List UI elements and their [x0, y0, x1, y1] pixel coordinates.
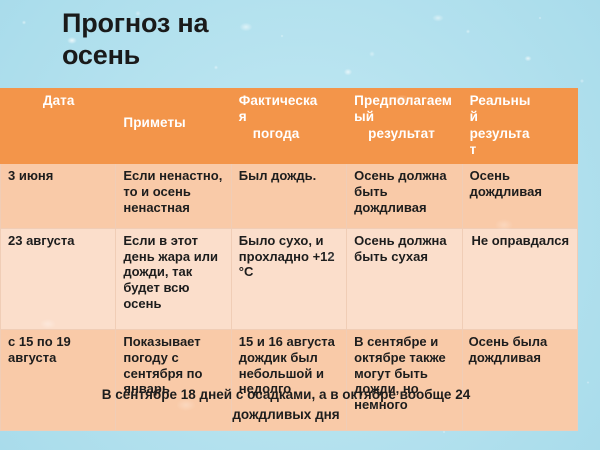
column-header-real-line2: й — [470, 109, 571, 125]
slide-canvas: Прогноз на осень Дата Приметы Фактическа… — [0, 0, 600, 450]
column-header-actual-weather: Фактическа я погода — [231, 89, 346, 164]
table-row: 23 августа Если в этот день жара или дож… — [1, 228, 578, 329]
cell-real-result: Не оправдался — [462, 228, 577, 329]
column-header-real-line3: результа — [470, 126, 571, 142]
cell-date: 23 августа — [1, 228, 116, 329]
column-header-actual-line1: Фактическа — [239, 93, 340, 109]
column-header-signs: Приметы — [116, 89, 231, 164]
cell-actual: Был дождь. — [231, 163, 346, 228]
table-body: 3 июня Если ненастно, то и осень ненастн… — [1, 163, 578, 430]
table-row: 3 июня Если ненастно, то и осень ненастн… — [1, 163, 578, 228]
cell-expected: В сентябре и октябре также могут быть до… — [347, 329, 462, 430]
column-header-signs-label: Приметы — [123, 115, 224, 131]
cell-real-result: Осень дождливая — [462, 163, 577, 228]
forecast-table-container: Дата Приметы Фактическа я погода Предпол… — [0, 88, 578, 431]
column-header-date-label: Дата — [8, 93, 109, 109]
column-header-real-result: Реальны й результа т — [462, 89, 577, 164]
column-header-expected-result: Предполагаем ый результат — [347, 89, 462, 164]
cell-signs: Если ненастно, то и осень ненастная — [116, 163, 231, 228]
cell-date: 3 июня — [1, 163, 116, 228]
column-header-real-line4: т — [470, 142, 571, 158]
table-row: с 15 по 19 августа Показывает погоду с с… — [1, 329, 578, 430]
cell-signs: Если в этот день жара или дожди, так буд… — [116, 228, 231, 329]
column-header-actual-line2: я — [239, 109, 340, 125]
cell-actual: Было сухо, и прохладно +12 °С — [231, 228, 346, 329]
column-header-expected-line1: Предполагаем — [354, 93, 455, 109]
column-header-expected-line2: ый — [354, 109, 455, 125]
cell-real-result: Осень была дождливая — [462, 329, 577, 430]
column-header-date: Дата — [1, 89, 116, 164]
cell-signs: Показывает погоду с сентября по январь — [116, 329, 231, 430]
cell-actual: 15 и 16 августа дождик был небольшой и н… — [231, 329, 346, 430]
column-header-actual-line3: погода — [239, 126, 340, 142]
cell-expected: Осень должна быть дождливая — [347, 163, 462, 228]
table-header: Дата Приметы Фактическа я погода Предпол… — [1, 89, 578, 164]
column-header-expected-line3: результат — [354, 126, 455, 142]
cell-expected: Осень должна быть сухая — [347, 228, 462, 329]
forecast-table: Дата Приметы Фактическа я погода Предпол… — [0, 88, 578, 431]
cell-date: с 15 по 19 августа — [1, 329, 116, 430]
page-title: Прогноз на осень — [62, 8, 402, 72]
column-header-real-line1: Реальны — [470, 93, 571, 109]
table-header-row: Дата Приметы Фактическа я погода Предпол… — [1, 89, 578, 164]
